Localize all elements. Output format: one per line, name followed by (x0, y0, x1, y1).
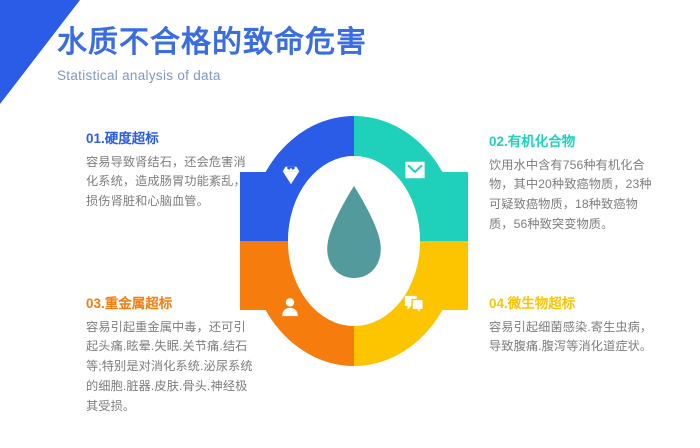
info-block-01-body: 容易导致肾结石，还会危害消化系统，造成肠胃功能紊乱，损伤肾脏和心脑血管。 (86, 153, 258, 212)
info-block-02[interactable]: 02.有机化合物 饮用水中含有756种有机化合物，其中20种致癌物质，23种可疑… (489, 133, 661, 235)
info-block-03[interactable]: 03.重金属超标 容易引起重金属中毒，还可引起头痛.眩晕.失眠.关节痛.结石等;… (86, 295, 258, 416)
info-block-02-body: 饮用水中含有756种有机化合物，其中20种致癌物质，23种可疑致癌物质，18种致… (489, 156, 661, 235)
ring-diagram-graphic (240, 108, 468, 374)
info-block-04-body: 容易引起细菌感染.寄生虫病，导致腹痛.腹泻等消化道症状。 (489, 318, 661, 358)
info-block-02-heading: 02.有机化合物 (489, 133, 661, 151)
info-block-01-heading: 01.硬度超标 (86, 130, 258, 148)
ring-diagram (240, 108, 468, 374)
page-title: 水质不合格的致命危害 (57, 26, 367, 61)
page-subtitle: Statistical analysis of data (57, 68, 367, 83)
info-block-03-body: 容易引起重金属中毒，还可引起头痛.眩晕.失眠.关节痛.结石等;特别是对消化系统.… (86, 318, 258, 417)
info-block-04[interactable]: 04.微生物超标 容易引起细菌感染.寄生虫病，导致腹痛.腹泻等消化道症状。 (489, 295, 661, 357)
header: 水质不合格的致命危害 Statistical analysis of data (57, 26, 367, 83)
info-block-04-heading: 04.微生物超标 (489, 295, 661, 313)
slide-canvas: 水质不合格的致命危害 Statistical analysis of data … (0, 0, 700, 448)
info-block-01[interactable]: 01.硬度超标 容易导致肾结石，还会危害消化系统，造成肠胃功能紊乱，损伤肾脏和心… (86, 130, 258, 212)
info-block-03-heading: 03.重金属超标 (86, 295, 258, 313)
